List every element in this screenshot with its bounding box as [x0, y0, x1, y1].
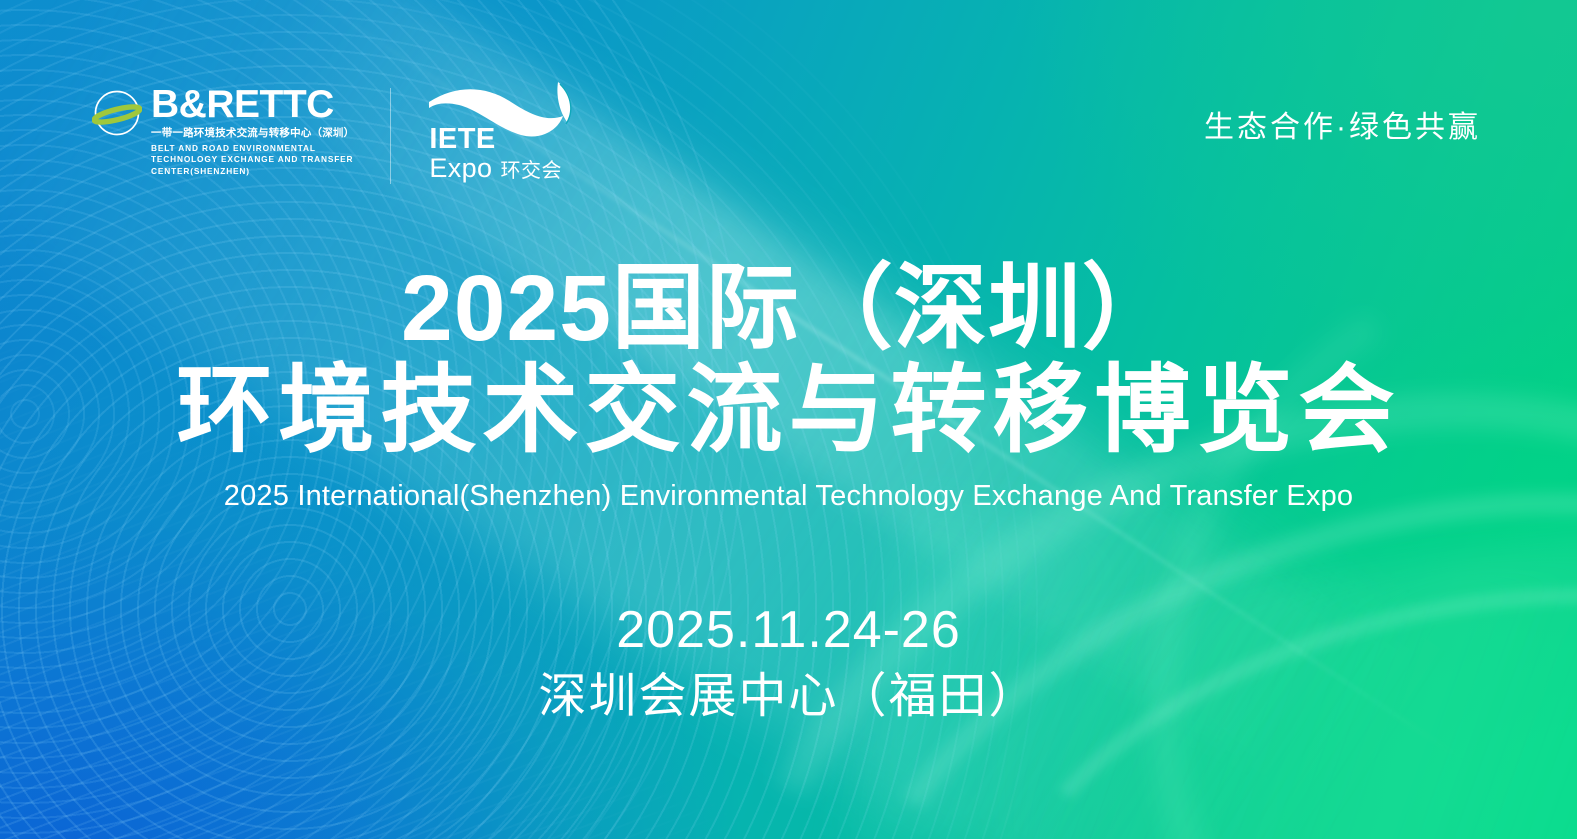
event-venue: 深圳会展中心（福田） — [0, 667, 1577, 727]
brettc-name-en-line1: BELT AND ROAD ENVIRONMENTAL — [151, 143, 354, 155]
banner-header: B&RETTC 一带一路环境技术交流与转移中心（深圳） BELT AND ROA… — [92, 84, 1481, 184]
iete-word-expo: Expo — [429, 155, 492, 182]
brettc-name-en-line2: TECHNOLOGY EXCHANGE AND TRANSFER — [151, 154, 354, 166]
brettc-name-cn: 一带一路环境技术交流与转移中心（深圳） — [151, 127, 354, 140]
banner-content: B&RETTC 一带一路环境技术交流与转移中心（深圳） BELT AND ROA… — [0, 0, 1577, 839]
logo-iete-expo[interactable]: IETE Expo 环交会 — [427, 84, 589, 184]
title-block: 2025国际（深圳） 环境技术交流与转移博览会 2025 Internation… — [0, 262, 1577, 513]
iete-acronym: IETE — [429, 125, 562, 154]
event-meta-block: 2025.11.24-26 深圳会展中心（福田） — [0, 600, 1577, 727]
subtitle-english: 2025 International(Shenzhen) Environment… — [0, 480, 1577, 513]
globe-ring-icon — [92, 88, 142, 138]
iete-wordmark: IETE Expo 环交会 — [429, 125, 562, 182]
brettc-name-en-line3: CENTER(SHENZHEN) — [151, 166, 354, 178]
event-slogan: 生态合作·绿色共赢 — [1204, 84, 1481, 146]
title-line-2: 环境技术交流与转移博览会 — [0, 361, 1577, 462]
event-banner: B&RETTC 一带一路环境技术交流与转移中心（深圳） BELT AND ROA… — [0, 0, 1577, 839]
iete-word-cn: 环交会 — [500, 161, 562, 181]
logo-divider — [390, 88, 391, 184]
brettc-name-en: BELT AND ROAD ENVIRONMENTAL TECHNOLOGY E… — [151, 143, 354, 178]
iete-subline: Expo 环交会 — [429, 155, 562, 182]
title-line-1: 2025国际（深圳） — [0, 262, 1577, 355]
logo-group: B&RETTC 一带一路环境技术交流与转移中心（深圳） BELT AND ROA… — [92, 84, 589, 184]
event-date: 2025.11.24-26 — [0, 600, 1577, 661]
brettc-text-block: B&RETTC 一带一路环境技术交流与转移中心（深圳） BELT AND ROA… — [151, 86, 354, 178]
logo-brettc[interactable]: B&RETTC 一带一路环境技术交流与转移中心（深圳） BELT AND ROA… — [92, 84, 354, 178]
brettc-wordmark: B&RETTC — [151, 86, 354, 123]
